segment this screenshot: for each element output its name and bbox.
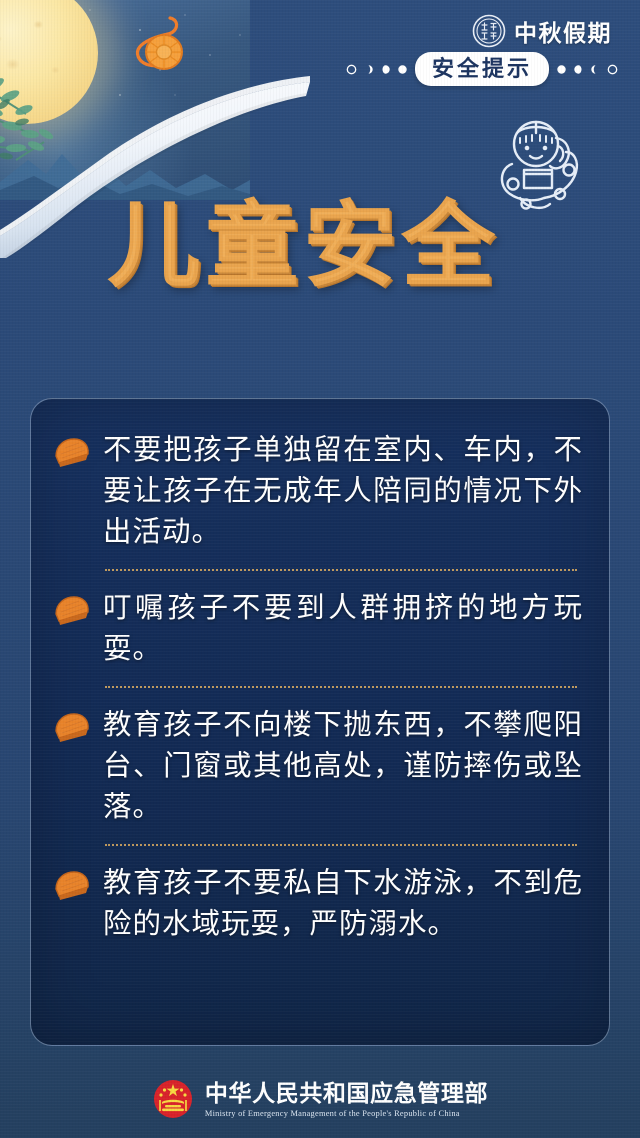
festival-label: 中秋假期 xyxy=(514,14,612,48)
foliage-branch-icon xyxy=(0,72,96,167)
child-line-art-icon xyxy=(486,112,598,216)
round-seal-icon xyxy=(472,14,506,48)
org-name-cn: 中华人民共和国应急管理部 xyxy=(205,1080,488,1107)
poster-root: 中秋假期 安全提示 xyxy=(0,0,640,1138)
mooncake-bullet-icon xyxy=(53,711,91,745)
waxing-crescent-icon xyxy=(363,64,374,75)
list-item: 叮嘱孩子不要到人群拥挤的地方玩耍。 xyxy=(53,587,583,669)
mooncake-bullet-icon xyxy=(53,436,91,470)
new-moon-icon xyxy=(346,64,357,75)
tip-text: 教育孩子不向楼下抛东西，不攀爬阳台、门窗或其他高处，谨防摔伤或坠落。 xyxy=(103,704,583,827)
list-item: 教育孩子不要私自下水游泳，不到危险的水域玩耍，严防溺水。 xyxy=(53,862,583,944)
full-moon-icon xyxy=(397,64,408,75)
org-name-en: Ministry of Emergency Management of the … xyxy=(205,1109,488,1118)
tip-divider xyxy=(105,569,577,571)
safety-tip-row: 安全提示 xyxy=(346,52,618,86)
waxing-gibbous-icon xyxy=(380,64,391,75)
page-title: 儿童安全 xyxy=(108,200,500,292)
list-item: 教育孩子不向楼下抛东西，不攀爬阳台、门窗或其他高处，谨防摔伤或坠落。 xyxy=(53,704,583,827)
waning-gibbous-icon xyxy=(573,64,584,75)
tip-divider xyxy=(105,686,577,688)
hanging-mooncake-icon xyxy=(124,14,190,84)
list-item: 不要把孩子单独留在室内、车内，不要让孩子在无成年人陪同的情况下外出活动。 xyxy=(53,429,583,552)
safety-tip-label: 安全提示 xyxy=(432,56,532,81)
tip-text: 叮嘱孩子不要到人群拥挤的地方玩耍。 xyxy=(103,587,583,669)
tip-text: 教育孩子不要私自下水游泳，不到危险的水域玩耍，严防溺水。 xyxy=(103,862,583,944)
waning-crescent-icon xyxy=(590,64,601,75)
footer: 中华人民共和国应急管理部 Ministry of Emergency Manag… xyxy=(0,1078,640,1120)
header-badge: 中秋假期 安全提示 xyxy=(318,14,618,86)
china-national-emblem-icon xyxy=(152,1078,194,1120)
new-moon-icon xyxy=(607,64,618,75)
moon-phases-left xyxy=(346,64,408,75)
moon-phases-right xyxy=(556,64,618,75)
mooncake-bullet-icon xyxy=(53,869,91,903)
full-moon-icon xyxy=(556,64,567,75)
festival-row: 中秋假期 xyxy=(472,14,612,48)
mooncake-bullet-icon xyxy=(53,594,91,628)
tip-divider xyxy=(105,844,577,846)
tips-container: 不要把孩子单独留在室内、车内，不要让孩子在无成年人陪同的情况下外出活动。 叮嘱孩… xyxy=(30,398,610,1046)
safety-tip-pill: 安全提示 xyxy=(415,52,549,86)
footer-texts: 中华人民共和国应急管理部 Ministry of Emergency Manag… xyxy=(205,1080,488,1117)
tip-text: 不要把孩子单独留在室内、车内，不要让孩子在无成年人陪同的情况下外出活动。 xyxy=(103,429,583,552)
